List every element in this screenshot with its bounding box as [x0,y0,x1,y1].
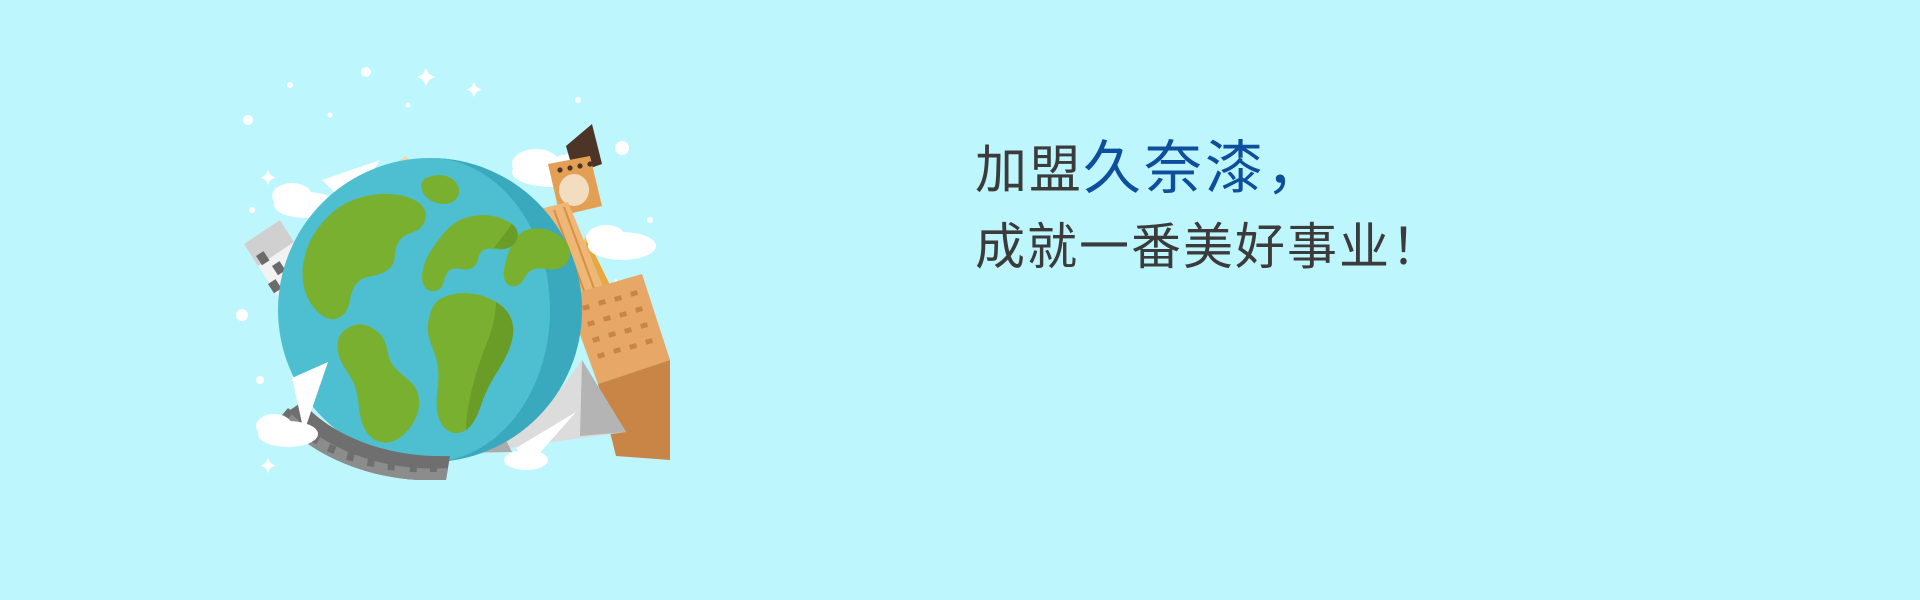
brand-name: 久奈漆 [1083,136,1266,201]
cloud-right-icon [586,225,656,260]
promo-banner: 加盟久奈漆， 成就一番美好事业！ [0,0,1920,600]
globe-illustration-svg [230,60,670,480]
headline-comma: ， [1266,136,1326,201]
earth-globe [278,158,582,462]
headline-block: 加盟久奈漆， 成就一番美好事业！ [975,140,1675,272]
globe-with-landmarks-illustration [230,60,670,480]
headline-line-2: 成就一番美好事业！ [975,222,1675,272]
headline-line-1: 加盟久奈漆， [975,140,1675,198]
headline-prefix: 加盟 [975,142,1083,200]
